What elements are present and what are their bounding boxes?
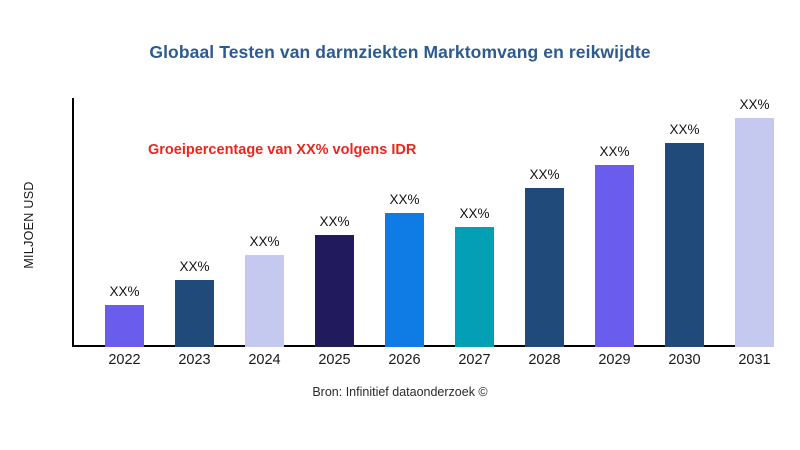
bar-group-2030: XX% [665,98,704,347]
bar-2028 [525,188,564,347]
bar-group-2022: XX% [105,98,144,347]
bar-group-2023: XX% [175,98,214,347]
x-tick-2027: 2027 [440,352,510,368]
x-tick-2030: 2030 [650,352,720,368]
source-caption: Bron: Infinitief dataonderzoek © [0,385,800,399]
bar-2027 [455,227,494,347]
bar-value-label-2023: XX% [179,259,209,274]
bar-group-2027: XX% [455,98,494,347]
bar-group-2026: XX% [385,98,424,347]
x-tick-2028: 2028 [510,352,580,368]
bar-group-2031: XX% [735,98,774,347]
chart-container: Globaal Testen van darmziekten Marktomva… [0,0,800,450]
x-tick-2026: 2026 [370,352,440,368]
bar-2023 [175,280,214,347]
bar-series: XX%XX%XX%XX%XX%XX%XX%XX%XX%XX% [72,98,800,347]
bar-value-label-2022: XX% [109,284,139,299]
bar-group-2024: XX% [245,98,284,347]
bar-value-label-2031: XX% [739,97,769,112]
x-tick-2029: 2029 [580,352,650,368]
bar-2024 [245,255,284,347]
x-axis-tick-labels: 2022202320242025202620272028202920302031 [72,352,800,374]
bar-group-2029: XX% [595,98,634,347]
x-tick-2023: 2023 [160,352,230,368]
bar-2026 [385,213,424,347]
bar-2022 [105,305,144,347]
y-axis-label: MILJOEN USD [22,100,38,350]
x-tick-2031: 2031 [720,352,790,368]
bar-value-label-2030: XX% [669,122,699,137]
bar-2029 [595,165,634,347]
chart-title: Globaal Testen van darmziekten Marktomva… [0,42,800,63]
bar-value-label-2026: XX% [389,192,419,207]
bar-2030 [665,143,704,347]
x-tick-2025: 2025 [300,352,370,368]
x-tick-2024: 2024 [230,352,300,368]
growth-rate-annotation: Groeipercentage van XX% volgens IDR [148,142,416,158]
bar-2031 [735,118,774,347]
bar-value-label-2027: XX% [459,206,489,221]
bar-2025 [315,235,354,347]
bar-group-2025: XX% [315,98,354,347]
bar-value-label-2025: XX% [319,214,349,229]
bar-value-label-2029: XX% [599,144,629,159]
x-tick-2022: 2022 [90,352,160,368]
bar-value-label-2028: XX% [529,167,559,182]
bar-group-2028: XX% [525,98,564,347]
bar-value-label-2024: XX% [249,234,279,249]
